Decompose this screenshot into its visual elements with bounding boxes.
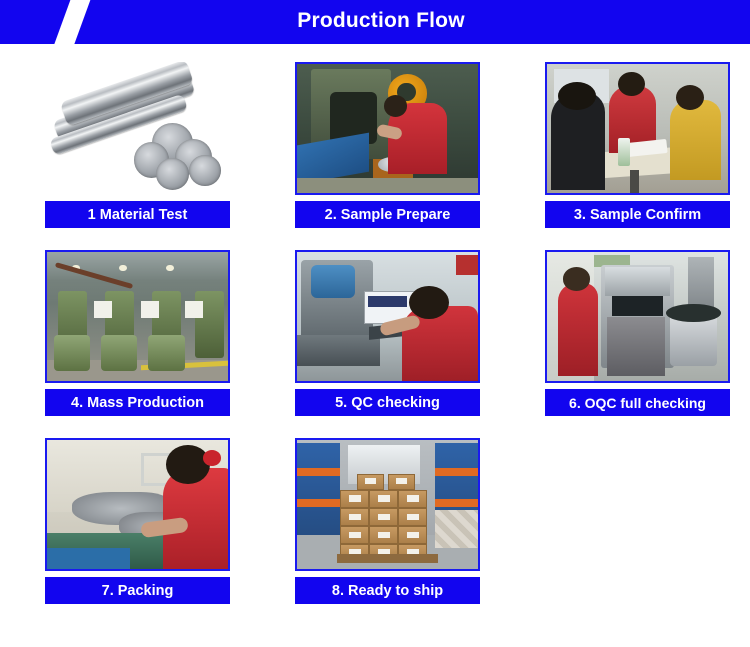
step-8-photo	[295, 438, 480, 571]
row-gap-2	[0, 416, 750, 438]
step-8-caption: 8. Ready to ship	[295, 577, 480, 604]
step-6-photo	[545, 250, 730, 383]
flow-step-7[interactable]: 7. Packing	[45, 438, 250, 604]
flow-step-5[interactable]: 5. QC checking	[295, 250, 500, 416]
step-1-caption: 1 Material Test	[45, 201, 230, 228]
page-header: Production Flow	[0, 0, 750, 44]
step-5-photo	[295, 250, 480, 383]
flow-step-3[interactable]: 3. Sample Confirm	[545, 62, 750, 228]
flow-step-1[interactable]: 1 Material Test	[45, 62, 250, 228]
step-1-photo	[45, 62, 230, 195]
step-2-photo	[295, 62, 480, 195]
flow-step-6[interactable]: 6. OQC full checking	[545, 250, 750, 416]
flow-step-8[interactable]: 8. Ready to ship	[295, 438, 500, 604]
step-7-caption: 7. Packing	[45, 577, 230, 604]
production-flow-grid: 1 Material Test 2. Sample Prepare	[0, 44, 750, 604]
step-2-caption: 2. Sample Prepare	[295, 201, 480, 228]
step-5-caption: 5. QC checking	[295, 389, 480, 416]
step-3-caption: 3. Sample Confirm	[545, 201, 730, 228]
step-4-photo	[45, 250, 230, 383]
row-gap-1	[0, 228, 750, 250]
step-4-caption: 4. Mass Production	[45, 389, 230, 416]
flow-row-1: 1 Material Test 2. Sample Prepare	[0, 62, 750, 228]
flow-step-4[interactable]: 4. Mass Production	[45, 250, 250, 416]
step-3-photo	[545, 62, 730, 195]
step-6-caption: 6. OQC full checking	[545, 389, 730, 416]
step-7-photo	[45, 438, 230, 571]
page-title: Production Flow	[0, 9, 750, 33]
flow-row-2: 4. Mass Production 5. QC checking	[0, 250, 750, 416]
flow-row-3: 7. Packing	[0, 438, 750, 604]
flow-step-2[interactable]: 2. Sample Prepare	[295, 62, 500, 228]
